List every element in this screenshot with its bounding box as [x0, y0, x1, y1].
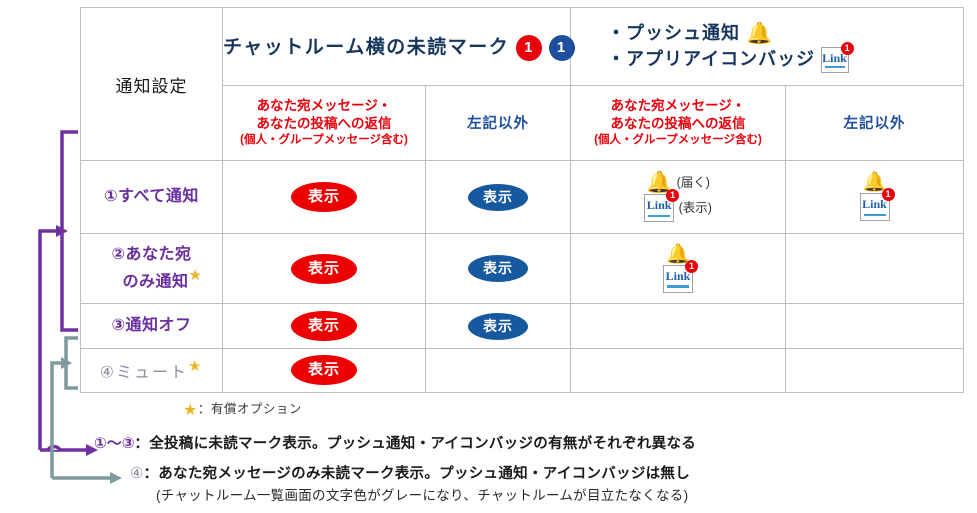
bell-icon: 🔔: [746, 23, 773, 44]
footnote-1: ①～③：全投稿に未読マーク表示。プッシュ通知・アイコンバッジの有無がそれぞれ異な…: [94, 432, 696, 453]
display-pill-red: 表示: [291, 182, 357, 212]
footnote-3: (チャットルーム一覧画面の文字色がグレーになり、チャットルームが目立たなくなる): [156, 484, 688, 505]
cell-r1c1: 表示: [223, 161, 426, 234]
sub-header-line1: あなた宛メッセージ・: [223, 97, 425, 115]
paid-star-icon: ★: [189, 266, 203, 286]
group-header-push-badge: ・プッシュ通知 🔔 ・アプリアイコンバッジ Link 1: [571, 8, 964, 86]
cell-r2c2: 表示: [426, 234, 571, 304]
sub-header-direct-unread: あなた宛メッセージ・ あなたの投稿への返信 (個人・グループメッセージ含む): [223, 85, 426, 161]
cell-r2c1: 表示: [223, 234, 426, 304]
footnote-1-text: ：全投稿に未読マーク表示。プッシュ通知・アイコンバッジの有無がそれぞれ異なる: [134, 436, 696, 452]
paid-star-icon: ★: [183, 400, 198, 420]
cell-r4c4-empty: [786, 348, 964, 392]
push-notification-label: ・プッシュ通知: [607, 23, 740, 43]
sub-header-other-label: 左記以外: [844, 116, 906, 132]
sub-header-line3: (個人・グループメッセージ含む): [223, 133, 425, 149]
link-app-icon-badge: 1: [666, 189, 679, 202]
link-app-icon-badge: 1: [841, 42, 854, 55]
unread-badge-blue-icon: 1: [549, 35, 575, 61]
bell-row: 🔔: [786, 173, 963, 192]
table-row: ①すべて通知 表示 表示 🔔 (届く): [81, 161, 964, 234]
table-row: ④ミュート★ 表示: [81, 348, 964, 392]
row-label-mute: ④ミュート★: [81, 348, 223, 392]
group-header-unread-label: チャットルーム横の未読マーク: [223, 37, 509, 58]
table-row: ②あなた宛 のみ通知★ 表示 表示 🔔: [81, 234, 964, 304]
corner-header-cell: 通知設定: [81, 8, 223, 161]
footnote-2-text: ：あなた宛メッセージのみ未読マーク表示。プッシュ通知・アイコンバッジは無し: [143, 466, 690, 482]
link-app-icon-badge: 1: [882, 188, 895, 201]
sub-header-line1: あなた宛メッセージ・: [571, 97, 785, 115]
row-label-text: ③通知オフ: [111, 317, 191, 334]
footnote-1-number: ①～③: [94, 435, 134, 452]
row-label-direct-only: ②あなた宛 のみ通知★: [81, 234, 223, 304]
cell-r2c4-empty: [786, 234, 964, 304]
link-app-icon-underline: [864, 214, 886, 217]
sub-header-line2: あなたの投稿への返信: [223, 115, 425, 133]
link-app-icon: Link 1: [860, 193, 890, 221]
table-group-header-row: 通知設定 チャットルーム横の未読マーク 1 1 ・プッシュ通知 🔔: [81, 8, 964, 86]
footnote-2: ④：あなた宛メッセージのみ未読マーク表示。プッシュ通知・アイコンバッジは無し: [130, 462, 690, 483]
notification-settings-table: 通知設定 チャットルーム横の未読マーク 1 1 ・プッシュ通知 🔔: [80, 7, 964, 393]
sub-header-direct-push: あなた宛メッセージ・ あなたの投稿への返信 (個人・グループメッセージ含む): [571, 85, 786, 161]
sub-header-line2: あなたの投稿への返信: [571, 115, 785, 133]
cell-r4c1: 表示: [223, 348, 426, 392]
cell-r2c3: 🔔 Link 1: [571, 234, 786, 304]
display-pill-red: 表示: [291, 311, 357, 341]
row-label-text-2: のみ通知★: [81, 266, 222, 293]
cell-r3c3-empty: [571, 304, 786, 348]
row-label-text: ②あなた宛: [81, 245, 222, 266]
unread-badge-red-icon: 1: [516, 35, 542, 61]
link-row: Link 1: [786, 193, 963, 221]
notification-settings-diagram: 通知設定 チャットルーム横の未読マーク 1 1 ・プッシュ通知 🔔: [0, 0, 977, 513]
corner-header-label: 通知設定: [116, 77, 188, 96]
row-label-all-notify: ①すべて通知: [81, 161, 223, 234]
legend-text: ：有償オプション: [198, 402, 302, 416]
sub-header-other-push: 左記以外: [786, 85, 964, 161]
link-app-icon-badge: 1: [685, 260, 698, 273]
bell-note: (届く): [677, 176, 710, 190]
footnote-2-number: ④: [130, 465, 143, 482]
cell-r1c2: 表示: [426, 161, 571, 234]
cell-r4c3-empty: [571, 348, 786, 392]
cell-r3c4-empty: [786, 304, 964, 348]
link-app-icon-underline: [648, 215, 670, 218]
paid-star-icon: ★: [188, 357, 203, 377]
cell-r3c2: 表示: [426, 304, 571, 348]
cell-r3c1: 表示: [223, 304, 426, 348]
bell-row: 🔔 (届く): [571, 172, 785, 193]
display-pill-blue: 表示: [468, 184, 528, 211]
group-header-push-line1: ・プッシュ通知 🔔: [607, 20, 963, 46]
cell-r1c4: 🔔 Link 1: [786, 161, 964, 234]
cell-r1c3: 🔔 (届く) Link 1 (表示): [571, 161, 786, 234]
link-row: Link 1: [571, 265, 785, 293]
row-label-notify-off: ③通知オフ: [81, 304, 223, 348]
bell-row: 🔔: [571, 245, 785, 264]
link-app-icon-underline: [825, 66, 845, 69]
sub-header-other-label: 左記以外: [467, 116, 529, 132]
footnote-3-text: (チャットルーム一覧画面の文字色がグレーになり、チャットルームが目立たなくなる): [156, 488, 688, 503]
display-pill-red: 表示: [291, 254, 357, 284]
table-row: ③通知オフ 表示 表示: [81, 304, 964, 348]
group-header-unread-mark: チャットルーム横の未読マーク 1 1: [223, 8, 571, 86]
display-pill-blue: 表示: [468, 313, 528, 340]
row-label-text: ④ミュート: [100, 364, 188, 381]
cell-r4c2-empty: [426, 348, 571, 392]
display-pill-blue: 表示: [468, 255, 528, 282]
legend-paid-option: ★：有償オプション: [183, 398, 302, 420]
group-header-push-line2: ・アプリアイコンバッジ Link 1: [607, 46, 963, 73]
sub-header-line3: (個人・グループメッセージ含む): [571, 133, 785, 149]
link-app-icon: Link 1: [663, 265, 693, 293]
link-app-icon: Link 1: [644, 194, 674, 222]
sub-header-other-unread: 左記以外: [426, 85, 571, 161]
link-app-icon-underline: [667, 285, 689, 288]
link-row: Link 1 (表示): [571, 194, 785, 222]
app-icon-badge-label: ・アプリアイコンバッジ: [607, 49, 815, 69]
row-label-text: ①すべて通知: [104, 188, 199, 205]
link-app-icon: Link 1: [821, 47, 849, 73]
link-note: (表示): [679, 201, 712, 215]
display-pill-red: 表示: [291, 355, 357, 385]
